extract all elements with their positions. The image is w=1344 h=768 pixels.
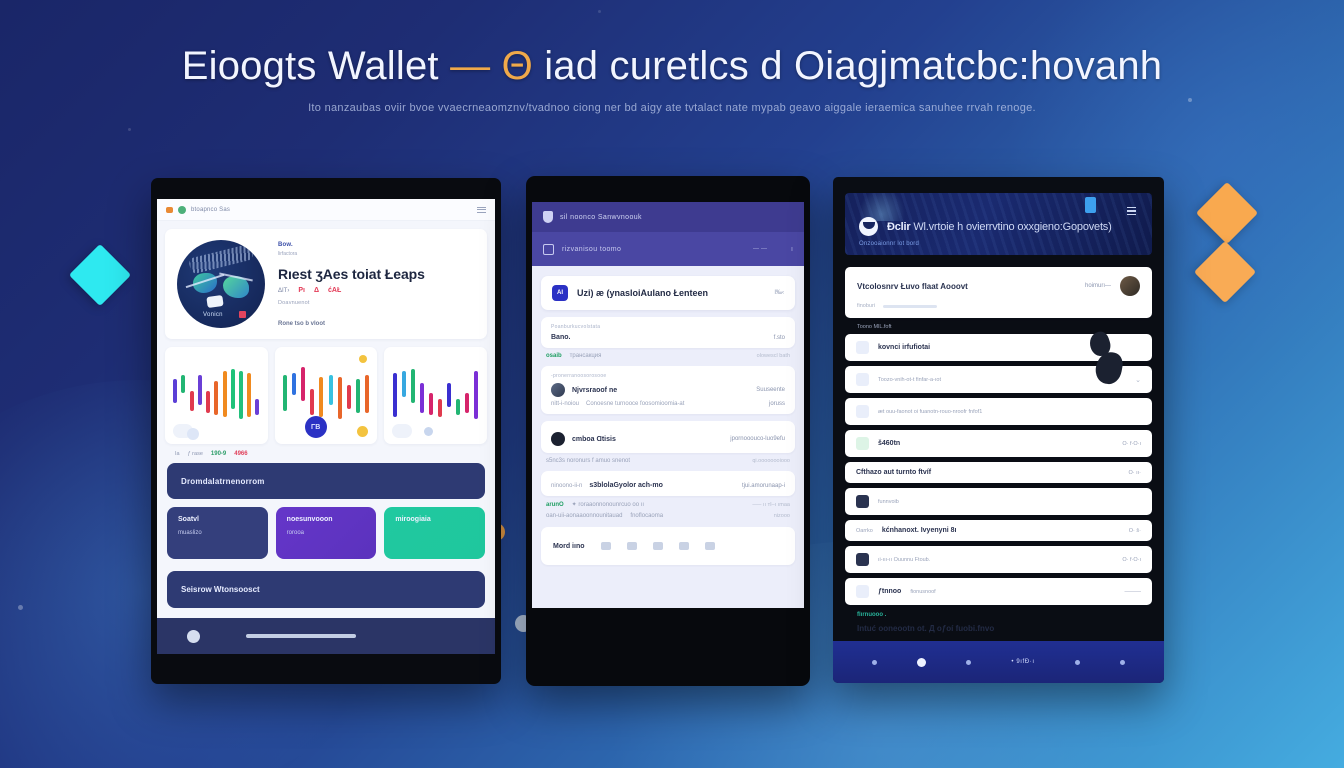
tile-card[interactable]: Soatvl muaslizo (167, 507, 268, 559)
list-item-title: ıi-ııı-ıı Ouunnu Ftoub. (878, 557, 930, 563)
phone-hero-card[interactable]: АІ Uzi) æ (ynasloiAulano Łenteen I‰‹ (541, 276, 795, 310)
list-item-sub: nitt-i-noiou (551, 401, 579, 407)
laptop-hero-banner: Đclir Wl.vrtoie h ovierrvtino oxxgieno:G… (845, 193, 1152, 255)
page-subtitle: Ito nanzaubas oviir bvoe vvaecrneaomznv/… (0, 102, 1344, 114)
taskbar-home-indicator[interactable] (246, 634, 356, 638)
avatar: Vonicn (177, 240, 265, 328)
phone-appbar-title: sil noonco Sanwvnoouk (560, 214, 642, 221)
list-item-sub-2: Conoesne turnooce foosomioomia-at (586, 401, 684, 407)
list-item-value-2: joruss (769, 401, 785, 407)
phone-footer-label: Mord iıno (553, 543, 585, 550)
separator-end: ––– ıı тІ–ı ımaa (752, 502, 790, 508)
avatar (551, 383, 565, 397)
diamond-orange-top-icon (1196, 182, 1258, 244)
tablet-hero-body: Bow. lirfactora Rıest ʒAes toiat Łeaps Δ… (278, 240, 475, 328)
laptop-brand: Đclir Wl.vrtoie h ovierrvtino oxxgieno:G… (859, 217, 1138, 236)
list-item-value: O· f·O·ı (1122, 441, 1141, 447)
chevron-down-icon[interactable]: ⌄ (1135, 376, 1141, 384)
code-icon (856, 585, 869, 598)
mono-label: flırnuooo . (845, 610, 1152, 620)
hero-title: Rıest ʒAes toiat Łeaps (278, 266, 475, 282)
stat-3: 190-9 (211, 451, 226, 457)
arrow-icon[interactable] (627, 542, 637, 550)
hero-meta-3: Δ (314, 287, 319, 294)
list-item-name: s3blolaGyolor ach-mo (589, 482, 663, 489)
laptop-banner-sub: Onzooaionnr lot bord (859, 241, 1138, 247)
phone-screen: sil noonco Sanwvnoouk rizvanisou toomo —… (532, 202, 804, 608)
list-item-title: funnvoib (878, 499, 899, 505)
tile-icon[interactable] (601, 542, 611, 550)
chart-badge-ghost (392, 424, 412, 438)
list-item[interactable]: ƒtnnoo fionusnoof ——— (845, 578, 1152, 605)
hero-header: Eioogts Wallet — Θ iad curetlcs d Oiagjm… (0, 44, 1344, 114)
list-item-value: O· š· (1129, 528, 1141, 534)
banner-chip-icon (1085, 197, 1096, 213)
taskbar-label: • 9ıfĐ·ı (1011, 659, 1034, 665)
avatar-ring-text (188, 243, 254, 274)
tablet-banner-top[interactable]: Dromdalatrnenorrom (167, 463, 485, 499)
list-item-value: jpornooouco-luo9efu (730, 436, 785, 442)
tablet-screen: btoapnco Sas Vonicn Bow. lirfactora Rıes… (157, 199, 495, 654)
list-item[interactable]: сmboa Ɑtisis jpornooouco-luo9efu (541, 421, 795, 453)
page-title-rest: iad curetlcs d Oiagjmatcbc:hovanh (544, 44, 1162, 88)
list-item[interactable]: ıi-ııı-ıı Ouunnu Ftoub. O· f·O·ı (845, 546, 1152, 573)
tablet-hero-card: Vonicn Bow. lirfactora Rıest ʒAes toiat … (165, 229, 487, 339)
taskbar-dot[interactable] (1075, 660, 1080, 665)
avatar-caption: Vonicn (203, 312, 223, 318)
laptop-taskbar: • 9ıfĐ·ı (833, 641, 1164, 683)
phone-footer-bar[interactable]: Mord iıno (541, 527, 795, 565)
list-item-title: kćnhanoxt. Ivyenyni 8ı (882, 527, 957, 534)
shield-icon (543, 211, 553, 223)
tile-title: miroogiaia (395, 516, 474, 523)
card-icon[interactable] (679, 542, 689, 550)
tile-title: Soatvl (178, 516, 257, 523)
list-item-title: æt ouu-faonot oi fuanotn-rouo-nroofr fnf… (878, 409, 982, 415)
hero-eyebrow: Bow. (278, 242, 475, 248)
separator-text: ✦ roraaonnonounrcuo oo ıı (572, 501, 644, 508)
account-card-line: finoburi (857, 303, 1140, 309)
avatar-badge-red (239, 311, 246, 318)
list-item[interactable]: Oarrko kćnhanoxt. Ivyenyni 8ı O· š· (845, 520, 1152, 541)
tablet-chart-cards: ΓΒ (165, 347, 487, 444)
candlestick-chart (171, 357, 262, 419)
account-card-top: Vtcolosnrv Łuvo flaat Aooovt hoimurı— (857, 276, 1140, 296)
list-item-kicker: ninoono-ii-n (551, 483, 582, 489)
square-icon[interactable] (653, 542, 663, 550)
stat-2: ƒ rase (188, 451, 203, 457)
list-item[interactable]: Poanburkucvolstata Bano. f.sto (541, 317, 795, 348)
account-card-title: Vtcolosnrv Łuvo flaat Aooovt (857, 282, 968, 291)
separator-end: qi.oooooooiooo (752, 458, 790, 464)
phone-appbar-right-2[interactable]: ı (791, 246, 793, 253)
hero-note: Doavnuenot (278, 300, 475, 306)
list-item-sub: fionusnoof (910, 589, 935, 595)
hero-eyebrow-secondary: lirfactora (278, 251, 475, 257)
menu-icon[interactable] (477, 207, 486, 213)
list-item-secondary: nitt-i-noiou Conoesne turnooce foosomioo… (551, 401, 785, 407)
account-card[interactable]: Vtcolosnrv Łuvo flaat Aooovt hoimurı— fi… (845, 267, 1152, 318)
stat-4: 4966 (234, 451, 247, 457)
list-kicker: Toono MlL.foft (857, 324, 1152, 330)
laptop-content: Vtcolosnrv Łuvo flaat Aooovt hoimurı— fi… (845, 267, 1152, 678)
chart-card[interactable] (165, 347, 268, 444)
page-title-accent: — Θ (450, 44, 533, 88)
diamond-orange-bottom-icon (1194, 241, 1256, 303)
separator-end: olowescl bath (757, 353, 790, 359)
list-item-title: š460tn (878, 440, 900, 447)
brand-text: Đclir (887, 221, 910, 233)
phone-appbar-subtitle: rizvanisou toomo (562, 246, 621, 253)
list-item-kicker: Poanburkucvolstata (551, 324, 785, 330)
list-item-name: Bano. (551, 334, 570, 341)
list-item-name: сmboa Ɑtisis (572, 436, 616, 443)
brand-tagline: Wl.vrtoie h ovierrvtino oxxgieno:Gopovet… (913, 221, 1111, 233)
phone-hero-value: I‰‹ (774, 290, 784, 296)
hamburger-icon[interactable] (1127, 207, 1136, 215)
device-laptop: Đclir Wl.vrtoie h ovierrvtino oxxgieno:G… (833, 177, 1164, 683)
list-item-value: O· f·O·ı (1122, 557, 1141, 563)
list-item-title: kovnci irfufiotai (878, 344, 930, 351)
list-separator: oan-uii-aonaaoonnounitauad fnoflocaoma n… (546, 513, 790, 519)
separator-text: трансакция (570, 353, 602, 359)
list-separator: osaib трансакция olowescl bath (546, 353, 790, 359)
list-item-kicker: Oarrko (856, 528, 873, 534)
list-item-main: сmboa Ɑtisis jpornooouco-luo9efu (551, 432, 785, 446)
background-speck (18, 605, 23, 610)
separator-tag: osaib (546, 353, 562, 359)
stat-1: Ia (175, 451, 180, 457)
cup-icon (856, 553, 869, 566)
laptop-brand-name: Đclir Wl.vrtoie h ovierrvtino oxxgieno:G… (887, 221, 1112, 233)
tablet-stats: Ia ƒ rase 190-9 4966 (175, 451, 495, 457)
chart-badge-dot (187, 428, 199, 440)
calendar-icon (856, 405, 869, 418)
chart-card[interactable] (384, 347, 487, 444)
hero-meta-2: Pı (298, 287, 305, 294)
hero-meta-1: ΔIT› (278, 288, 289, 294)
tile-sub: rorooa (287, 530, 366, 536)
page-title-main: Eioogts Wallet (182, 44, 439, 88)
wallet-icon (856, 437, 869, 450)
device-phone: sil noonco Sanwvnoouk rizvanisou toomo —… (526, 176, 810, 686)
list-item[interactable]: š460tn O· f·O·ı (845, 430, 1152, 457)
list-item-value: Suuseente (756, 387, 785, 393)
phone-appbar-right: —— (753, 246, 769, 252)
grid-icon (856, 341, 869, 354)
phone-hero-title: Uzi) æ (ynasloiAulano Łenteen (577, 288, 708, 298)
tablet-banner-bottom[interactable]: Seisrow Wtonsoosct (167, 571, 485, 608)
list-item[interactable]: -pronerranoosorosooe Njvrsraoof ne Suuse… (541, 366, 795, 414)
taskbar-dot[interactable] (1120, 660, 1125, 665)
list-item-value: f.sto (774, 335, 785, 341)
leaf-icon (166, 207, 173, 213)
hero-meta: ΔIT› Pı Δ ćAŁ (278, 287, 475, 294)
list-item-value: ——— (1125, 589, 1142, 595)
taskbar-dot[interactable] (966, 660, 971, 665)
avatar[interactable] (1120, 276, 1140, 296)
list-item[interactable]: funnvoib (845, 488, 1152, 515)
shield-icon (856, 495, 869, 508)
list-item-title: Cfthazo aut turnto ftvíf (856, 469, 931, 476)
tablet-topbar: btoapnco Sas (157, 199, 495, 221)
device-tablet: btoapnco Sas Vonicn Bow. lirfactora Rıes… (151, 178, 501, 684)
list-item-value: tjui.amorunaap-i (742, 483, 785, 489)
avatar (551, 432, 565, 446)
square-icon (543, 244, 554, 255)
phone-appbar-primary: sil noonco Sanwvnoouk (532, 202, 804, 232)
tablet-topbar-label: btoapnco Sas (191, 207, 230, 213)
account-card-label: finoburi (857, 303, 875, 309)
taskbar-app-icon[interactable] (187, 630, 200, 643)
separator-text: s5nc3s noronurs f amuo snenot (546, 458, 630, 464)
page-title: Eioogts Wallet — Θ iad curetlcs d Oiagjm… (0, 44, 1344, 89)
app-icon (178, 206, 186, 214)
diamond-cyan-icon (69, 244, 131, 306)
wallet-icon: АІ (552, 285, 568, 301)
tablet-tiles: Soatvl muaslizo noesunvooon rorooa miroo… (167, 507, 485, 559)
list-item-name: Njvrsraoof ne (572, 387, 617, 394)
background-speck (598, 10, 601, 13)
tile-card[interactable]: miroogiaia (384, 507, 485, 559)
list-item[interactable]: æt ouu-faonot oi fuanotn-rouo-nroofr fnf… (845, 398, 1152, 425)
account-card-right: hoimurı— (1085, 283, 1111, 289)
chart-badge: ΓΒ (305, 416, 327, 438)
list-separator: s5nc3s noronurs f amuo snenot qi.ooooooo… (546, 458, 790, 464)
chart-dot (424, 427, 433, 436)
wallet-logo-icon (859, 217, 878, 236)
list-item[interactable]: ninoono-ii-n s3blolaGyolor ach-mo tjui.a… (541, 471, 795, 496)
tile-sub: muaslizo (178, 530, 257, 536)
hero-meta-4: ćAŁ (328, 287, 341, 294)
separator-tag: arunO (546, 502, 564, 508)
background-speck (128, 128, 131, 131)
list-item-main: Njvrsraoof ne Suuseente (551, 383, 785, 397)
tablet-taskbar (157, 618, 495, 654)
list-item-kicker: -pronerranoosorosooe (551, 373, 785, 379)
hero-footer: Rone tso b vloot (278, 321, 475, 327)
taskbar-active-app-icon[interactable] (917, 658, 926, 667)
separator-end: nizooo (774, 513, 790, 519)
candlestick-chart (281, 357, 372, 419)
list-item[interactable]: Cfthazo aut turnto ftvíf O· ıı· (845, 462, 1152, 483)
tile-title: noesunvooon (287, 516, 366, 523)
section-heading: Intuć ooneootn ot. Д oƒoí fuobi.fnvo (845, 620, 1152, 633)
list-item-value: O· ıı· (1128, 470, 1141, 476)
phone-appbar-secondary: rizvanisou toomo —— ı (532, 232, 804, 266)
list-item-title: Toozo-vnih-ot-t finfar-a-ıot (878, 377, 941, 383)
list-separator: arunO ✦ roraaonnonounrcuo oo ıı ––– ıı т… (546, 501, 790, 508)
list-item-title: ƒtnnoo (878, 588, 901, 595)
tile-card[interactable]: noesunvooon rorooa (276, 507, 377, 559)
progress-bar (883, 305, 937, 308)
bar-icon[interactable] (705, 542, 715, 550)
list-item-main: ninoono-ii-n s3blolaGyolor ach-mo tjui.a… (551, 482, 785, 489)
taskbar-dot[interactable] (872, 660, 877, 665)
separator-text-2: fnoflocaoma (630, 513, 663, 519)
doc-icon (856, 373, 869, 386)
separator-text: oan-uii-aonaaoonnounitauad (546, 513, 622, 519)
coin-icon (357, 426, 368, 437)
chart-card[interactable]: ΓΒ (275, 347, 378, 444)
list-item-main: Bano. f.sto (551, 334, 785, 341)
avatar-chip (206, 295, 223, 308)
candlestick-chart (390, 357, 481, 419)
